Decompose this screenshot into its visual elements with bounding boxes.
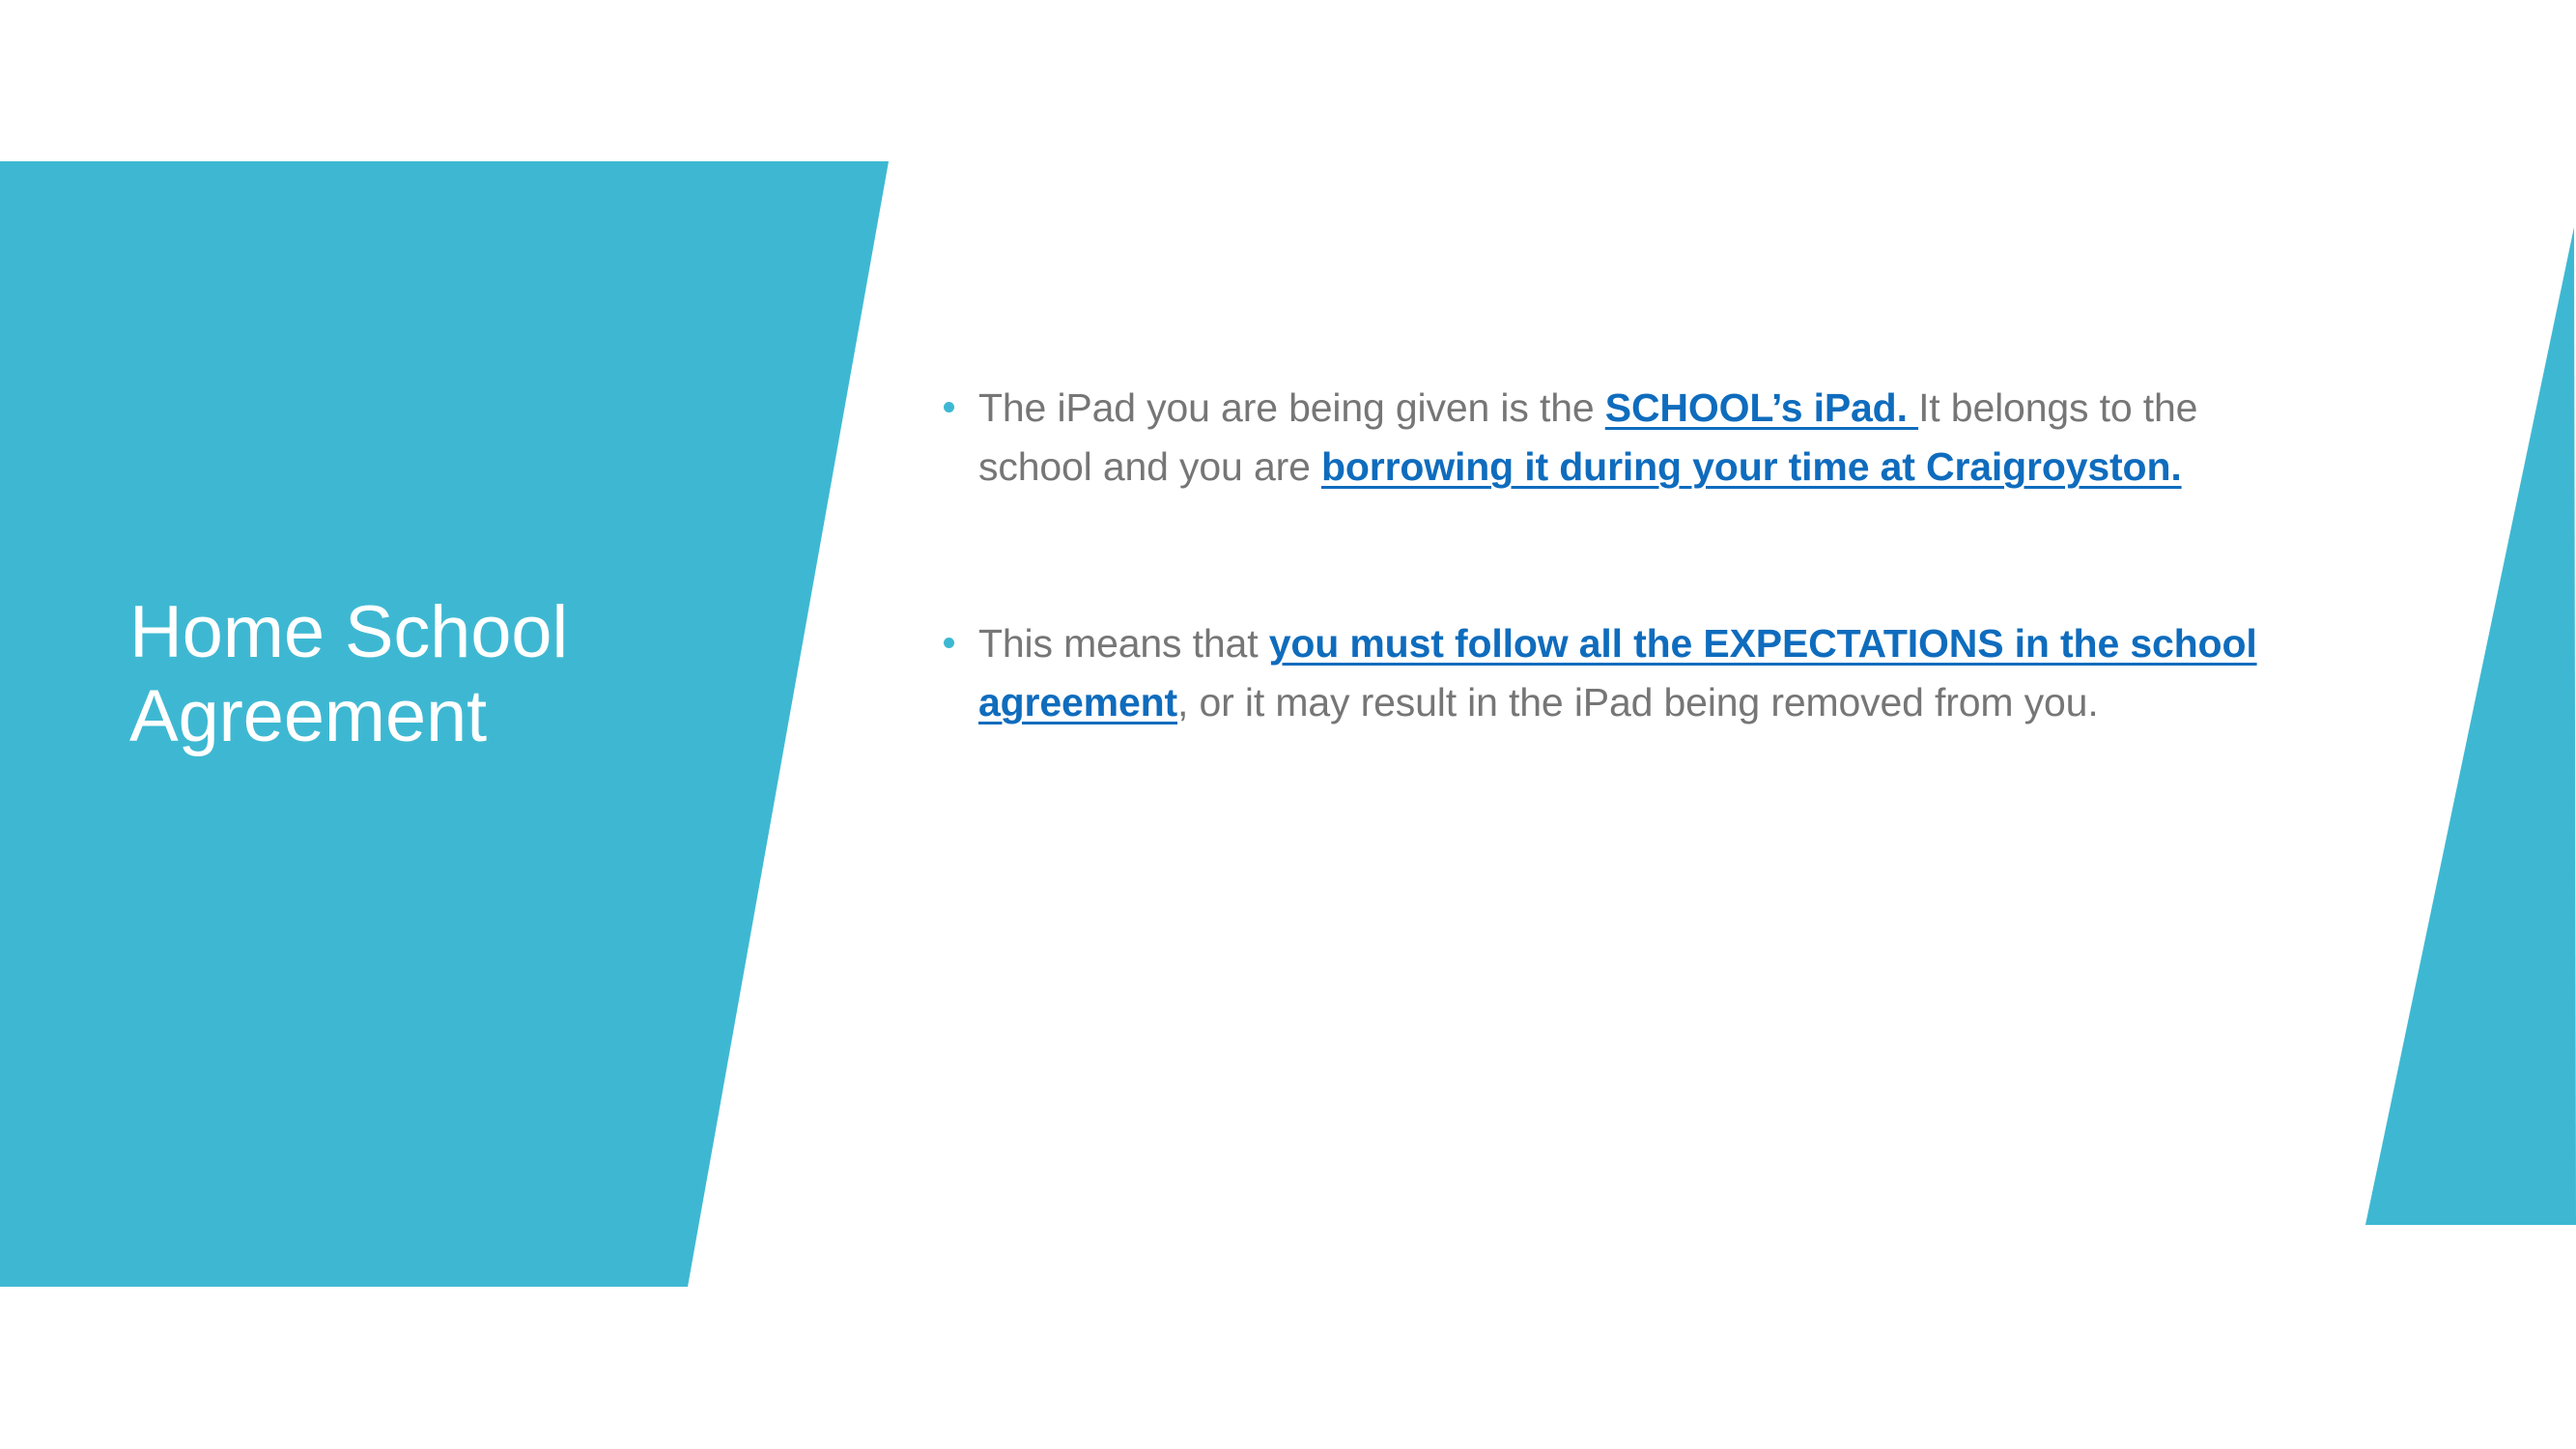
- plain-text: The iPad you are being given is the: [978, 385, 1605, 430]
- list-item-text: The iPad you are being given is the SCHO…: [978, 379, 2313, 497]
- emphasis-link-text[interactable]: borrowing it during your time at Craigro…: [1321, 444, 2182, 489]
- plain-text: , or it may result in the iPad being rem…: [1177, 680, 2099, 724]
- list-item: The iPad you are being given is the SCHO…: [932, 379, 2313, 497]
- page-title-line-1: Home School: [129, 591, 728, 675]
- bullet-dot-icon: [932, 614, 978, 653]
- page-title-line-2: Agreement: [129, 675, 728, 759]
- list-item: This means that you must follow all the …: [932, 614, 2313, 732]
- list-item-text: This means that you must follow all the …: [978, 614, 2313, 732]
- page-title: Home School Agreement: [129, 591, 728, 758]
- right-teal-triangle: [2318, 0, 2576, 1449]
- emphasis-link-text[interactable]: SCHOOL’s iPad.: [1605, 385, 1918, 430]
- bullet-dot-icon: [932, 379, 978, 417]
- plain-text: This means that: [978, 621, 1269, 666]
- body-content: The iPad you are being given is the SCHO…: [932, 379, 2313, 732]
- slide-canvas: Home School Agreement The iPad you are b…: [0, 0, 2576, 1449]
